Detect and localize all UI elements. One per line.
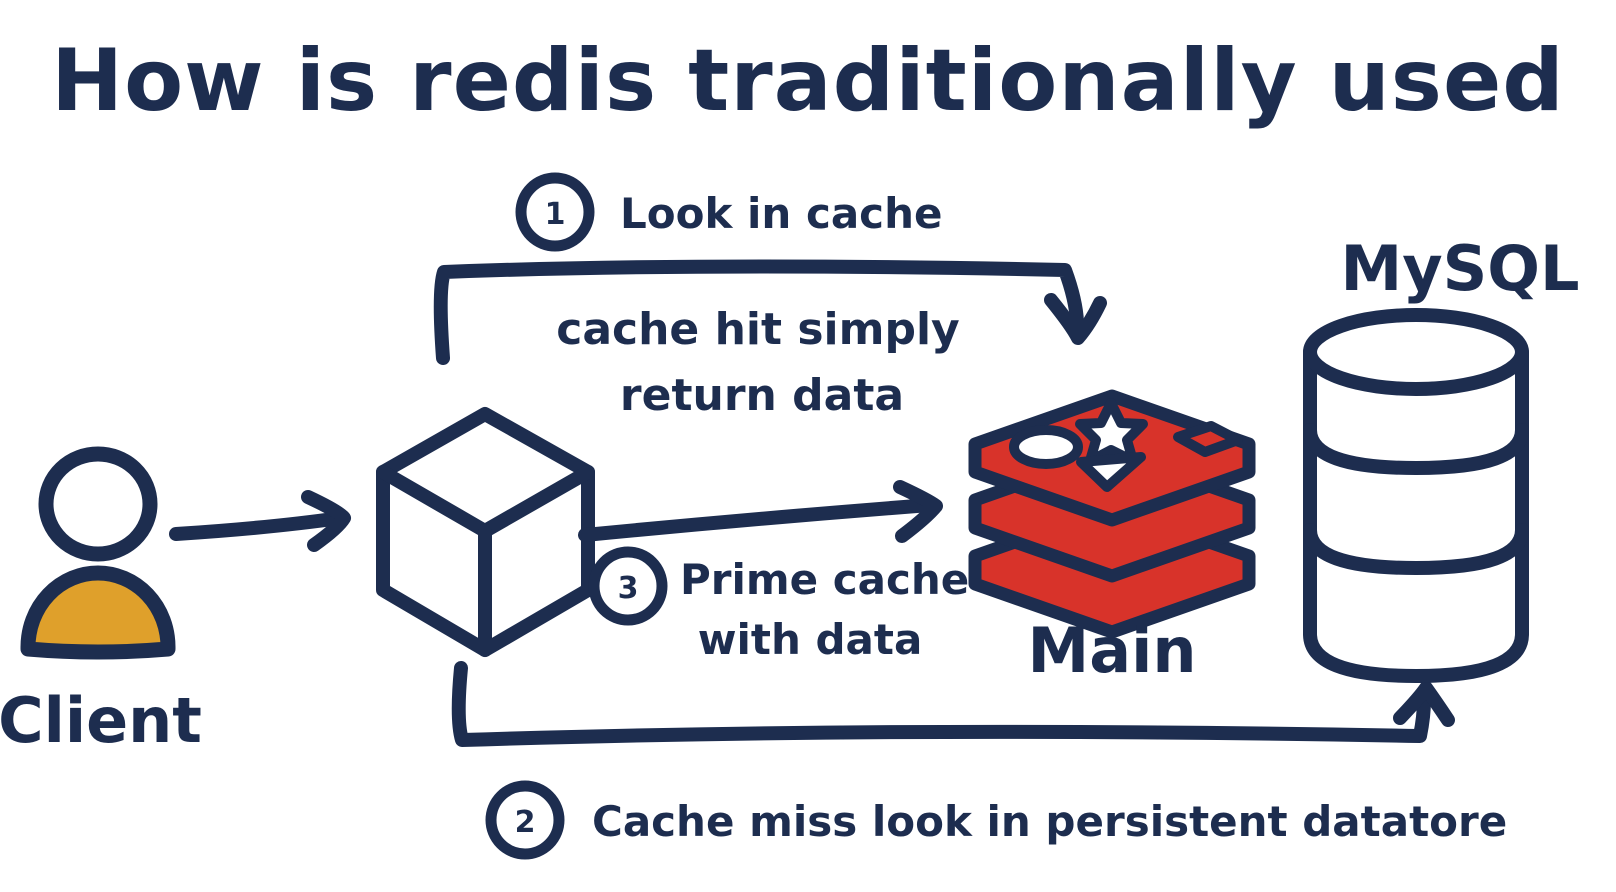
- flow-1-note-line1: cache hit simply: [556, 304, 959, 355]
- step-number-1: 1: [545, 197, 566, 232]
- cache-label: Main: [1028, 614, 1197, 687]
- step-number-2: 2: [515, 805, 536, 840]
- database-label: MySQL: [1341, 232, 1580, 305]
- diagram-text-layer: How is redis traditionally used 1 3 2 Lo…: [0, 0, 1616, 892]
- flow-1-note-line2: return data: [620, 370, 904, 421]
- flow-3-label-line1: Prime cache: [680, 555, 969, 604]
- step-number-3: 3: [618, 571, 639, 606]
- flow-3-label-line2: with data: [698, 615, 923, 664]
- flow-2-label: Cache miss look in persistent datatore: [592, 797, 1507, 846]
- page-title: How is redis traditionally used: [51, 31, 1565, 131]
- client-label: Client: [0, 684, 202, 757]
- flow-1-label: Look in cache: [620, 189, 942, 238]
- diagram-canvas: How is redis traditionally used 1 3 2 Lo…: [0, 0, 1616, 892]
